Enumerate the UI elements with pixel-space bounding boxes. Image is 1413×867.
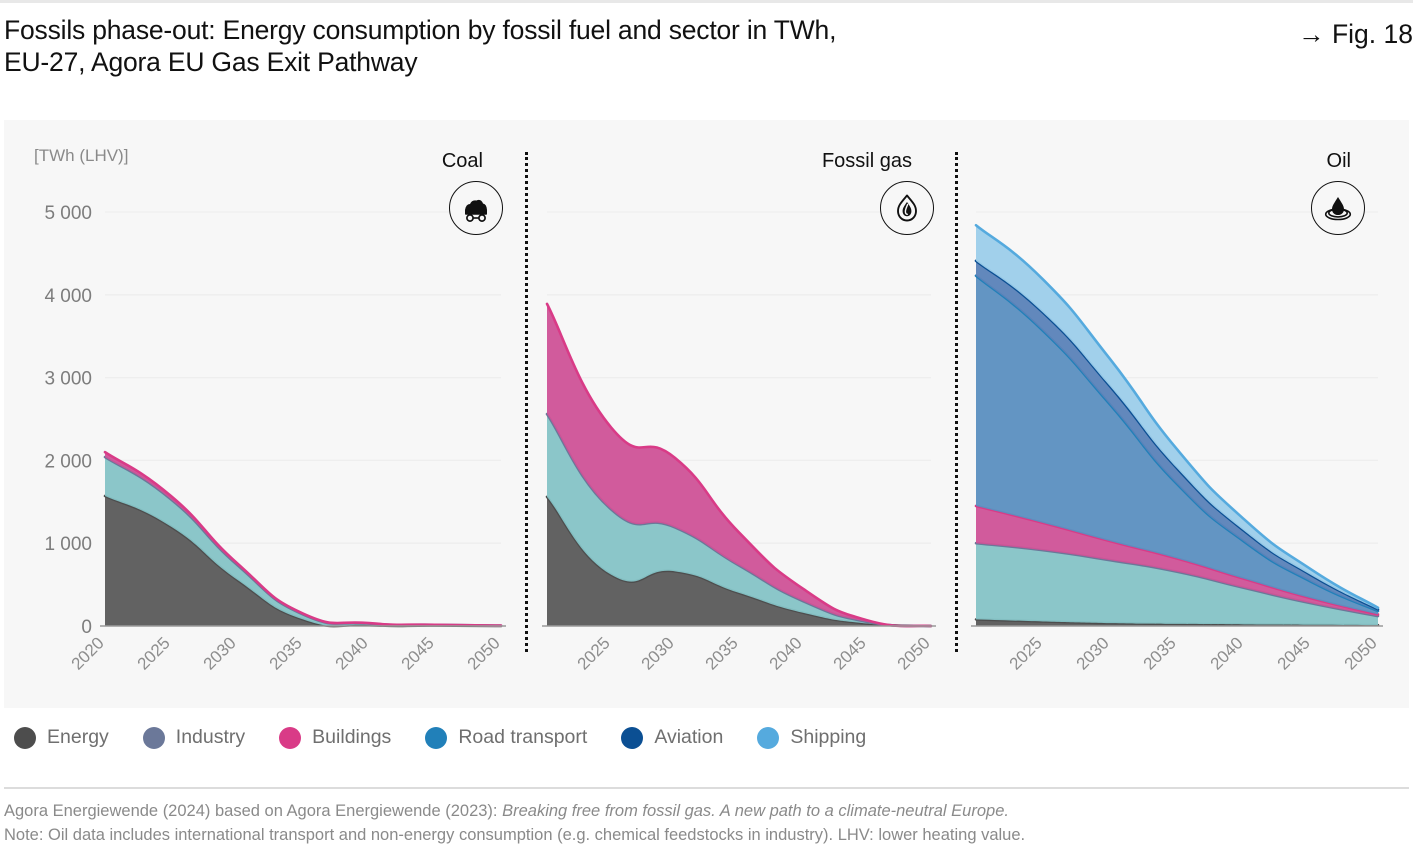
legend-item[interactable]: Road transport — [425, 726, 587, 749]
chart-card: [TWh (LHV)] Coal Fossil gas Oil — [4, 120, 1409, 708]
x-axis-tick-label: 2030 — [1073, 633, 1113, 673]
y-axis-tick-label: 0 — [81, 617, 92, 638]
x-axis-tick-label: 2045 — [398, 633, 438, 673]
legend-label: Buildings — [312, 726, 391, 749]
legend-item[interactable]: Industry — [143, 726, 245, 749]
y-axis-tick-label: 2 000 — [44, 451, 92, 472]
legend-label: Shipping — [790, 726, 866, 749]
legend-item[interactable]: Buildings — [279, 726, 391, 749]
y-axis-tick-label: 4 000 — [44, 286, 92, 307]
figure-page: Fossils phase-out: Energy consumption by… — [0, 0, 1413, 867]
header-top-rule — [0, 0, 1413, 3]
flame-icon — [880, 181, 934, 235]
x-axis-tick-label: 2035 — [1140, 633, 1180, 673]
legend-dot-industry — [143, 727, 165, 749]
legend-label: Industry — [176, 726, 245, 749]
legend-dot-aviation — [621, 727, 643, 749]
x-axis-tick-label: 2025 — [574, 633, 614, 673]
x-axis-tick-label: 2040 — [1207, 633, 1247, 673]
x-axis-tick-label: 2045 — [830, 633, 870, 673]
x-axis-tick-label: 2035 — [266, 633, 306, 673]
panel-title-coal: Coal — [442, 150, 483, 173]
oil-drop-icon — [1311, 181, 1365, 235]
x-axis-tick-label: 2050 — [1341, 633, 1381, 673]
legend-dot-road-transport — [425, 727, 447, 749]
x-axis-tick-label: 2035 — [702, 633, 742, 673]
x-axis-tick-label: 2050 — [894, 633, 934, 673]
x-axis-tick-label: 2045 — [1274, 633, 1314, 673]
x-axis-tick-label: 2025 — [134, 633, 174, 673]
source-line: Agora Energiewende (2024) based on Agora… — [4, 799, 1409, 823]
y-axis-unit-label: [TWh (LHV)] — [34, 146, 128, 166]
panel-title-gas: Fossil gas — [822, 150, 912, 173]
y-axis-tick-label: 1 000 — [44, 534, 92, 555]
panel-divider-1 — [525, 152, 528, 652]
legend-item[interactable]: Energy — [14, 726, 109, 749]
figure-footer: Agora Energiewende (2024) based on Agora… — [4, 787, 1409, 847]
panel-title-oil: Oil — [1327, 150, 1351, 173]
legend-dot-buildings — [279, 727, 301, 749]
legend-dot-shipping — [757, 727, 779, 749]
x-axis-tick-label: 2020 — [68, 633, 108, 673]
legend-label: Road transport — [458, 726, 587, 749]
x-axis-tick-label: 2025 — [1006, 633, 1046, 673]
source-title: Breaking free from fossil gas. A new pat… — [502, 802, 1009, 820]
x-axis-tick-label: 2040 — [766, 633, 806, 673]
stacked-area-chart: 5 0004 0003 0002 0001 000020202025203020… — [4, 120, 1409, 708]
legend-dot-energy — [14, 727, 36, 749]
chart-legend: EnergyIndustryBuildingsRoad transportAvi… — [14, 726, 900, 749]
legend-label: Aviation — [654, 726, 723, 749]
legend-item[interactable]: Shipping — [757, 726, 866, 749]
x-axis-tick-label: 2030 — [638, 633, 678, 673]
legend-label: Energy — [47, 726, 109, 749]
source-text: Agora Energiewende (2024) based on Agora… — [4, 802, 502, 820]
page-title: Fossils phase-out: Energy consumption by… — [4, 14, 1184, 78]
x-axis-tick-label: 2050 — [464, 633, 504, 673]
x-axis-tick-label: 2040 — [332, 633, 372, 673]
panel-divider-2 — [955, 152, 958, 652]
figure-header: Fossils phase-out: Energy consumption by… — [0, 0, 1413, 92]
x-axis-tick-label: 2030 — [200, 633, 240, 673]
note-line: Note: Oil data includes international tr… — [4, 823, 1409, 847]
y-axis-tick-label: 3 000 — [44, 369, 92, 390]
y-axis-tick-label: 5 000 — [44, 203, 92, 224]
figure-reference: → Fig. 18 — [1298, 18, 1413, 50]
coal-cart-icon — [449, 181, 503, 235]
legend-item[interactable]: Aviation — [621, 726, 723, 749]
